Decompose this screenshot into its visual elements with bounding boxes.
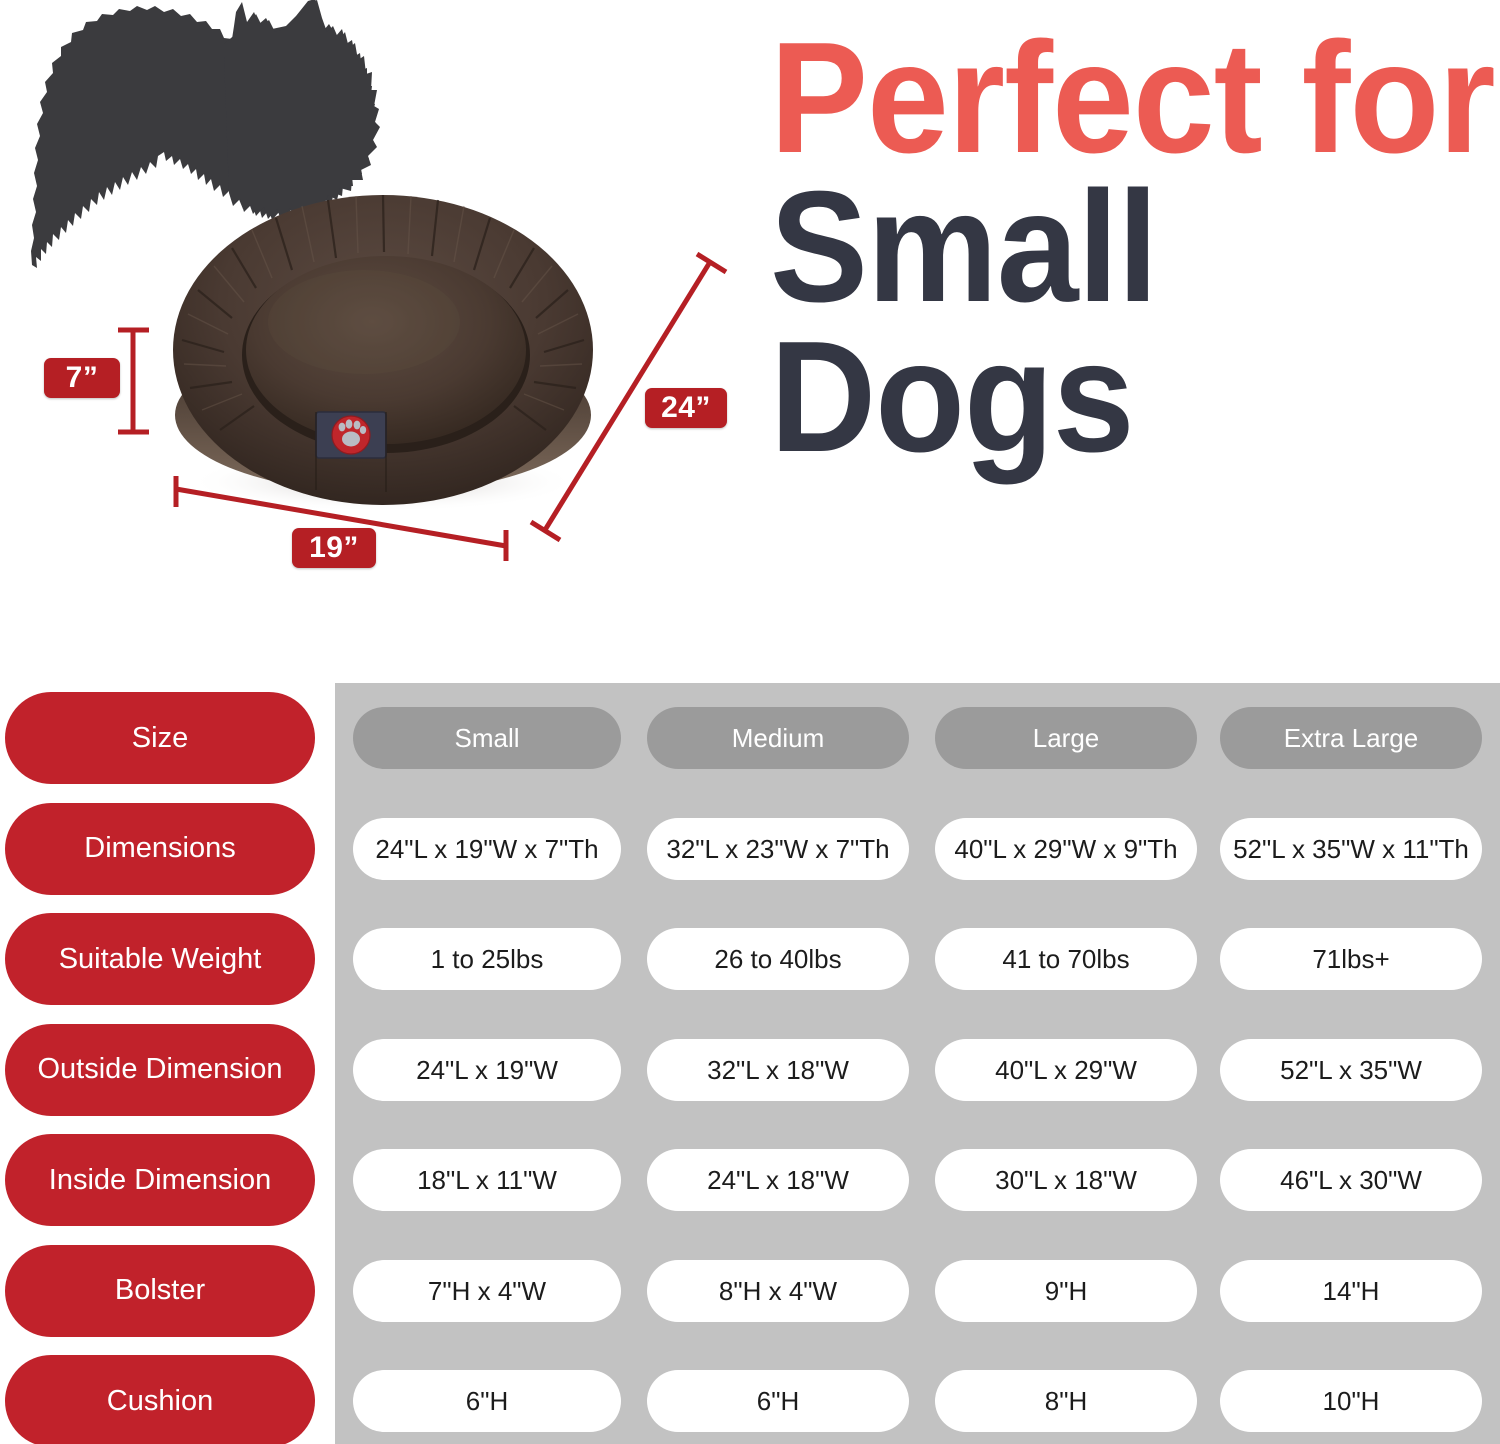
- headline-line-3: Dogs: [770, 325, 1449, 470]
- infographic-page: 7” 24” 19” Perfect for Small Dogs SmallM…: [0, 0, 1500, 1444]
- callout-height: 7”: [44, 358, 120, 398]
- row-label-bolster: Bolster: [5, 1245, 315, 1337]
- cell-inside-dimension-large: 30"L x 18"W: [935, 1149, 1197, 1211]
- hero-section: 7” 24” 19” Perfect for Small Dogs: [0, 0, 1500, 683]
- column-header-large: Large: [935, 707, 1197, 769]
- callout-depth: 24”: [645, 388, 727, 428]
- cell-cushion-extra-large: 10"H: [1220, 1370, 1482, 1432]
- cell-outside-dimension-small: 24"L x 19"W: [353, 1039, 621, 1101]
- row-label-inside-dimension: Inside Dimension: [5, 1134, 315, 1226]
- headline-block: Perfect for Small Dogs: [770, 26, 1500, 470]
- cell-inside-dimension-extra-large: 46"L x 30"W: [1220, 1149, 1482, 1211]
- cell-outside-dimension-large: 40"L x 29"W: [935, 1039, 1197, 1101]
- column-header-small: Small: [353, 707, 621, 769]
- column-header-extra-large: Extra Large: [1220, 707, 1482, 769]
- row-label-dimensions: Dimensions: [5, 803, 315, 895]
- spec-table-panel: SmallMediumLargeExtra Large24"L x 19"W x…: [335, 683, 1500, 1444]
- cell-bolster-extra-large: 14"H: [1220, 1260, 1482, 1322]
- cell-dimensions-extra-large: 52"L x 35"W x 11"Th: [1220, 818, 1482, 880]
- cell-suitable-weight-medium: 26 to 40lbs: [647, 928, 909, 990]
- callout-width: 19”: [292, 528, 376, 568]
- headline-line-2: Small: [770, 175, 1449, 320]
- headline-line-1: Perfect for: [770, 26, 1449, 171]
- cell-cushion-large: 8"H: [935, 1370, 1197, 1432]
- cell-inside-dimension-medium: 24"L x 18"W: [647, 1149, 909, 1211]
- cell-dimensions-small: 24"L x 19"W x 7"Th: [353, 818, 621, 880]
- cell-outside-dimension-extra-large: 52"L x 35"W: [1220, 1039, 1482, 1101]
- cell-dimensions-large: 40"L x 29"W x 9"Th: [935, 818, 1197, 880]
- cell-dimensions-medium: 32"L x 23"W x 7"Th: [647, 818, 909, 880]
- cell-suitable-weight-large: 41 to 70lbs: [935, 928, 1197, 990]
- cell-bolster-large: 9"H: [935, 1260, 1197, 1322]
- cell-suitable-weight-extra-large: 71lbs+: [1220, 928, 1482, 990]
- cell-cushion-small: 6"H: [353, 1370, 621, 1432]
- cell-suitable-weight-small: 1 to 25lbs: [353, 928, 621, 990]
- spec-table-row-labels: SizeDimensionsSuitable WeightOutside Dim…: [0, 683, 335, 1444]
- cell-bolster-small: 7"H x 4"W: [353, 1260, 621, 1322]
- cell-bolster-medium: 8"H x 4"W: [647, 1260, 909, 1322]
- cell-inside-dimension-small: 18"L x 11"W: [353, 1149, 621, 1211]
- cell-outside-dimension-medium: 32"L x 18"W: [647, 1039, 909, 1101]
- cell-cushion-medium: 6"H: [647, 1370, 909, 1432]
- column-header-medium: Medium: [647, 707, 909, 769]
- row-label-suitable-weight: Suitable Weight: [5, 913, 315, 1005]
- row-label-outside-dimension: Outside Dimension: [5, 1024, 315, 1116]
- row-label-cushion: Cushion: [5, 1355, 315, 1444]
- product-photo-dog-bed: [168, 160, 598, 515]
- row-label-size: Size: [5, 692, 315, 784]
